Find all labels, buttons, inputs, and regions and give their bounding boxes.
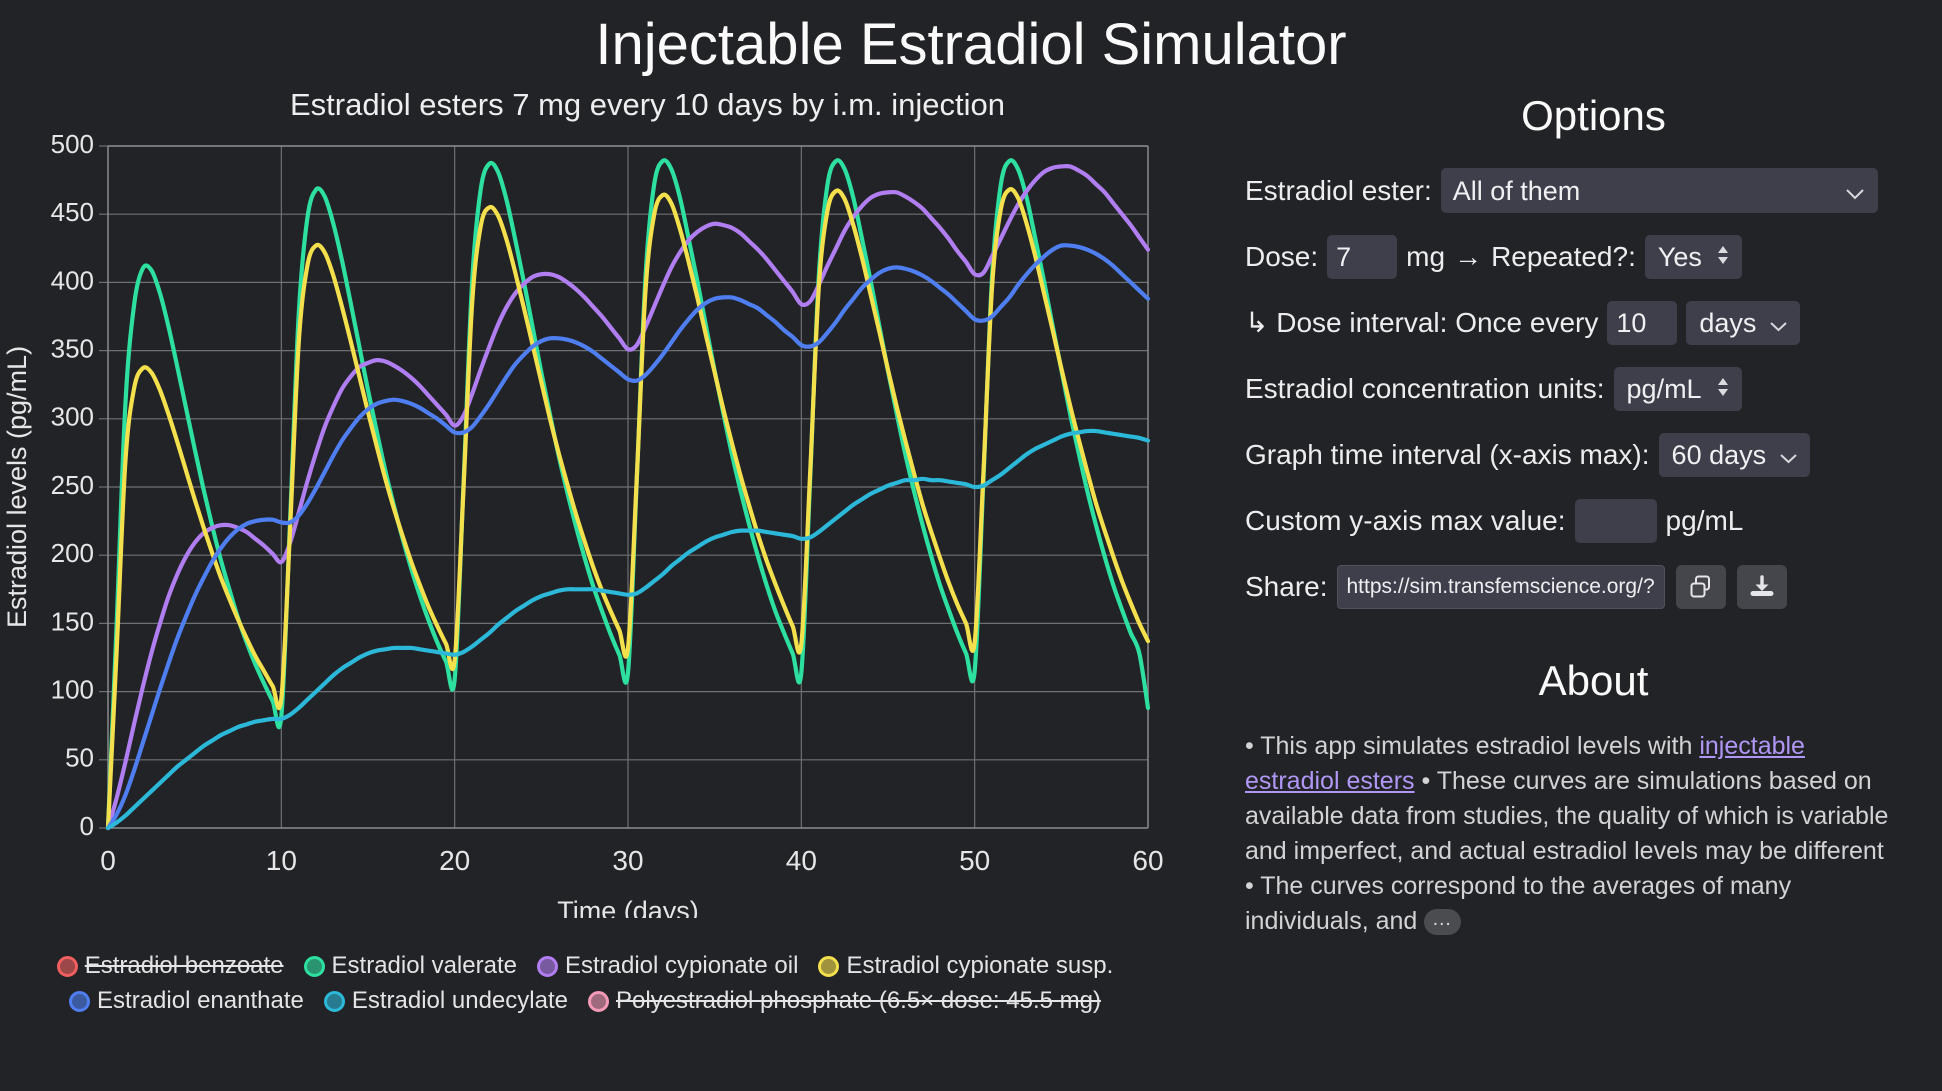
- x-axis-label: Time (days): [557, 896, 699, 918]
- estradiol-line-chart: 0501001502002503003504004505000102030405…: [0, 128, 1170, 918]
- svg-text:500: 500: [51, 129, 94, 159]
- time-interval-value: 60 days: [1672, 433, 1767, 477]
- legend-item-label: Estradiol enanthate: [97, 987, 304, 1015]
- about-text-part-1: • This app simulates estradiol levels wi…: [1245, 732, 1699, 760]
- svg-text:50: 50: [65, 743, 94, 773]
- copy-link-button[interactable]: [1676, 565, 1726, 609]
- ester-label: Estradiol ester:: [1245, 169, 1432, 213]
- svg-text:40: 40: [786, 845, 817, 876]
- ester-select[interactable]: All of them: [1441, 168, 1878, 213]
- legend-item-label: Polyestradiol phosphate (6.5× dose: 45.5…: [616, 987, 1101, 1015]
- legend-item-estradiol-cypionate-oil[interactable]: Estradiol cypionate oil: [537, 952, 798, 980]
- svg-text:150: 150: [51, 606, 94, 636]
- svg-text:450: 450: [51, 197, 94, 227]
- show-more-button[interactable]: …: [1424, 909, 1461, 935]
- option-row-units: Estradiol concentration units: pg/mL: [1245, 367, 1942, 411]
- y-axis-label: Estradiol levels (pg/mL): [2, 346, 32, 628]
- chevron-down-icon: [1770, 301, 1787, 345]
- legend-row-1: Estradiol benzoateEstradiol valerateEstr…: [57, 952, 1114, 980]
- svg-text:50: 50: [959, 845, 990, 876]
- legend-item-label: Estradiol valerate: [332, 952, 517, 980]
- time-interval-select[interactable]: 60 days: [1659, 433, 1811, 477]
- dose-input[interactable]: [1327, 235, 1397, 279]
- updown-arrows-icon: [1717, 235, 1729, 279]
- legend-item-estradiol-benzoate[interactable]: Estradiol benzoate: [57, 952, 284, 980]
- legend-item-polyestradiol-phosphate-6-5-dose-45-5-mg[interactable]: Polyestradiol phosphate (6.5× dose: 45.5…: [588, 987, 1101, 1015]
- ester-select-value: All of them: [1453, 169, 1581, 213]
- legend-item-label: Estradiol cypionate oil: [565, 952, 798, 980]
- svg-text:200: 200: [51, 538, 94, 568]
- main-columns: Estradiol esters 7 mg every 10 days by i…: [0, 82, 1942, 1082]
- chart-legend: Estradiol benzoateEstradiol valerateEstr…: [0, 952, 1170, 1015]
- legend-row-2: Estradiol enanthateEstradiol undecylateP…: [69, 987, 1101, 1015]
- repeated-select-value: Yes: [1658, 235, 1702, 279]
- dose-unit: mg: [1406, 235, 1445, 279]
- ymax-label: Custom y-axis max value:: [1245, 499, 1566, 543]
- about-text: • This app simulates estradiol levels wi…: [1245, 729, 1890, 939]
- legend-color-dot-icon: [69, 991, 90, 1012]
- option-row-ester: Estradiol ester: All of them: [1245, 168, 1942, 213]
- ymax-unit: pg/mL: [1666, 499, 1744, 543]
- svg-text:300: 300: [51, 402, 94, 432]
- interval-unit-value: days: [1699, 301, 1756, 345]
- legend-color-dot-icon: [57, 956, 78, 977]
- legend-item-estradiol-undecylate[interactable]: Estradiol undecylate: [324, 987, 568, 1015]
- svg-text:20: 20: [439, 845, 470, 876]
- option-row-time-interval: Graph time interval (x-axis max): 60 day…: [1245, 433, 1942, 477]
- legend-color-dot-icon: [818, 956, 839, 977]
- legend-item-label: Estradiol benzoate: [85, 952, 284, 980]
- share-url-input[interactable]: [1337, 565, 1665, 609]
- option-row-dose: Dose: mg → Repeated?: Yes: [1245, 235, 1942, 279]
- repeated-select[interactable]: Yes: [1645, 235, 1742, 279]
- legend-color-dot-icon: [304, 956, 325, 977]
- legend-color-dot-icon: [324, 991, 345, 1012]
- chart-area: 0501001502002503003504004505000102030405…: [0, 128, 1170, 948]
- updown-arrows-icon: [1717, 367, 1729, 411]
- option-row-ymax: Custom y-axis max value: pg/mL: [1245, 499, 1942, 543]
- interval-label: ↳ Dose interval: Once every: [1245, 301, 1598, 345]
- units-label: Estradiol concentration units:: [1245, 367, 1605, 411]
- interval-unit-select[interactable]: days: [1686, 301, 1800, 345]
- option-row-share: Share:: [1245, 565, 1942, 609]
- option-row-interval: ↳ Dose interval: Once every days: [1245, 301, 1942, 345]
- legend-item-estradiol-valerate[interactable]: Estradiol valerate: [304, 952, 517, 980]
- svg-text:0: 0: [100, 845, 116, 876]
- dose-label: Dose:: [1245, 235, 1318, 279]
- svg-text:60: 60: [1132, 845, 1163, 876]
- svg-text:100: 100: [51, 674, 94, 704]
- copy-icon: [1688, 574, 1714, 600]
- svg-text:250: 250: [51, 470, 94, 500]
- legend-item-label: Estradiol cypionate susp.: [846, 952, 1113, 980]
- legend-item-estradiol-enanthate[interactable]: Estradiol enanthate: [69, 987, 304, 1015]
- chart-title: Estradiol esters 7 mg every 10 days by i…: [0, 82, 1245, 128]
- app-root: Injectable Estradiol Simulator Estradiol…: [0, 0, 1942, 1091]
- dose-arrow-icon: →: [1454, 235, 1482, 279]
- download-icon: [1749, 574, 1775, 600]
- share-label: Share:: [1245, 565, 1328, 609]
- about-heading: About: [1245, 655, 1942, 707]
- svg-text:0: 0: [80, 811, 94, 841]
- legend-item-label: Estradiol undecylate: [352, 987, 568, 1015]
- interval-input[interactable]: [1607, 301, 1677, 345]
- legend-item-estradiol-cypionate-susp[interactable]: Estradiol cypionate susp.: [818, 952, 1113, 980]
- ymax-input[interactable]: [1575, 499, 1657, 543]
- download-button[interactable]: [1737, 565, 1787, 609]
- repeated-label: Repeated?:: [1491, 235, 1636, 279]
- units-select[interactable]: pg/mL: [1614, 367, 1742, 411]
- time-interval-label: Graph time interval (x-axis max):: [1245, 433, 1650, 477]
- svg-text:350: 350: [51, 333, 94, 363]
- svg-text:30: 30: [612, 845, 643, 876]
- svg-text:10: 10: [266, 845, 297, 876]
- svg-text:400: 400: [51, 265, 94, 295]
- legend-color-dot-icon: [537, 956, 558, 977]
- page-title: Injectable Estradiol Simulator: [0, 0, 1942, 82]
- options-column: Options Estradiol ester: All of them Dos…: [1245, 82, 1942, 1082]
- units-select-value: pg/mL: [1627, 367, 1702, 411]
- options-heading: Options: [1245, 90, 1942, 142]
- chevron-down-icon: [1846, 169, 1864, 213]
- chart-column: Estradiol esters 7 mg every 10 days by i…: [0, 82, 1245, 1082]
- legend-color-dot-icon: [588, 991, 609, 1012]
- chevron-down-icon: [1780, 433, 1797, 477]
